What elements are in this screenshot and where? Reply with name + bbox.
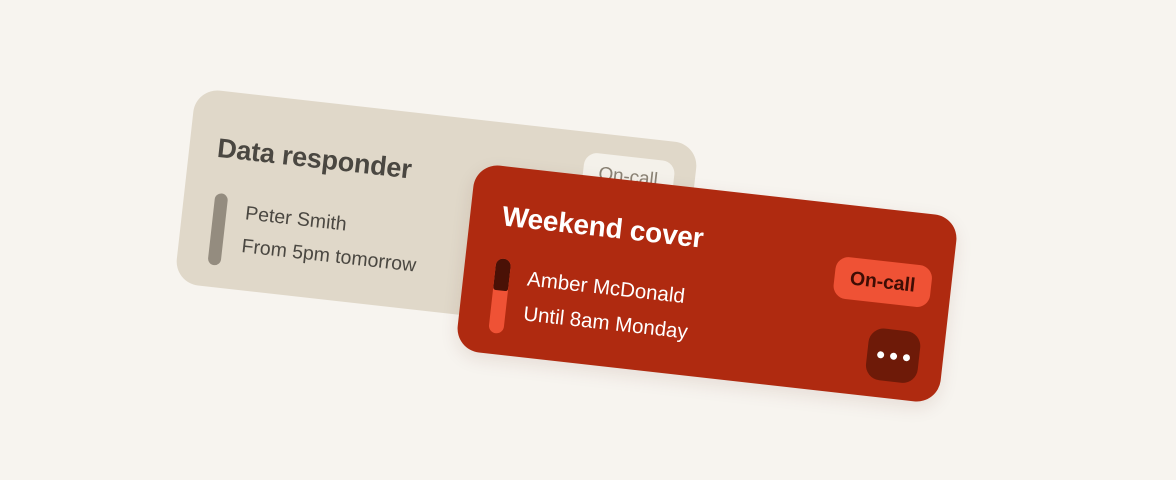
status-badge: On-call [832,256,933,309]
schedule-card-weekend-cover[interactable]: Weekend cover On-call Amber McDonald Unt… [455,163,959,404]
shift-indicator-elapsed [493,258,511,291]
ellipsis-dot-3 [902,353,910,361]
canvas: Data responder On-call Peter Smith From … [0,0,1176,480]
shift-indicator-bar [488,258,511,334]
ellipsis-dot-1 [876,350,884,358]
shift-indicator-bar [207,193,228,266]
card-title: Data responder [216,133,414,186]
ellipsis-dot-2 [889,352,897,360]
card-details: Peter Smith From 5pm tomorrow [240,197,422,282]
status-badge-label: On-call [849,267,917,297]
more-options-icon[interactable] [864,327,921,384]
card-details: Amber McDonald Until 8am Monday [522,262,694,350]
card-title: Weekend cover [500,200,705,254]
